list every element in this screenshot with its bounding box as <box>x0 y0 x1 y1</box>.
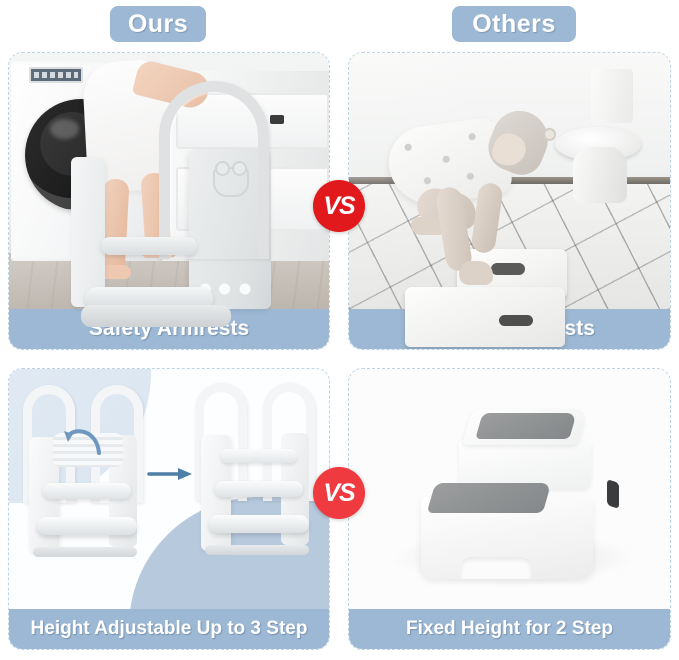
cabinet-handle-lower <box>270 189 284 198</box>
vs-badge-bottom: VS <box>313 467 365 519</box>
straight-right-arrow-icon <box>147 465 193 483</box>
safety-armrest-rail <box>159 81 269 259</box>
stool-top-step <box>221 449 297 463</box>
stool-middle-step <box>215 481 303 497</box>
column-headers: Ours Others <box>0 0 679 46</box>
stool-bottom-step <box>37 517 137 535</box>
stool-bottom-step <box>209 515 309 533</box>
stool-side-grip-handle <box>499 315 533 326</box>
stool-lower-grip-pad <box>427 483 552 513</box>
stool-lower-step <box>405 287 565 347</box>
column-header-ours: Ours <box>110 6 206 42</box>
stool-upper-riser <box>459 439 591 489</box>
adjustable-stool-position-high <box>193 383 317 555</box>
panel-others-fixed-height: Fixed Height for 2 Step <box>348 368 671 650</box>
girl-face <box>488 129 530 171</box>
stool-upper-step <box>101 237 197 255</box>
photo-laundry-room-scene <box>9 53 329 349</box>
toilet-tank <box>591 69 633 123</box>
fixed-two-step-stool <box>421 409 613 589</box>
caption-fixed-height: Fixed Height for 2 Step <box>349 609 670 649</box>
panel-ours-safety-armrests: Safety Armrests <box>8 52 330 350</box>
photo-bathroom-scene <box>349 53 670 349</box>
stool-base <box>81 305 231 327</box>
caption-height-adjustable: Height Adjustable Up to 3 Step <box>9 609 329 649</box>
toilet-bowl <box>573 147 627 203</box>
stool-middle-step <box>43 483 131 499</box>
step-stool-with-armrests <box>71 79 257 309</box>
panel-ours-height-adjustable: Height Adjustable Up to 3 Step <box>8 368 330 650</box>
photo-adjustable-stools <box>9 369 329 649</box>
stool-top-grip-pad <box>475 413 576 439</box>
column-header-others: Others <box>452 6 576 42</box>
stool-base-cutout <box>461 557 531 579</box>
girl-bending-over <box>385 95 575 285</box>
vs-badge-top: VS <box>313 180 365 232</box>
girl-hair-tie <box>541 126 558 143</box>
panel-others-lack-of-armrests: Lack of Armrests <box>348 52 671 350</box>
stool-foot-bar <box>205 545 309 555</box>
cabinet-handle-upper <box>270 115 284 124</box>
stool-side-grip-handle <box>607 479 619 509</box>
girl-hand-on-stool <box>459 261 493 285</box>
adjustable-stool-position-low <box>21 385 145 557</box>
stool-foot-bar <box>33 547 137 557</box>
product-comparison-board: Ours Others <box>0 0 679 660</box>
photo-fixed-two-step-stool <box>349 369 670 649</box>
curved-up-left-arrow-icon <box>63 425 109 461</box>
stool-side-panel <box>71 157 105 307</box>
